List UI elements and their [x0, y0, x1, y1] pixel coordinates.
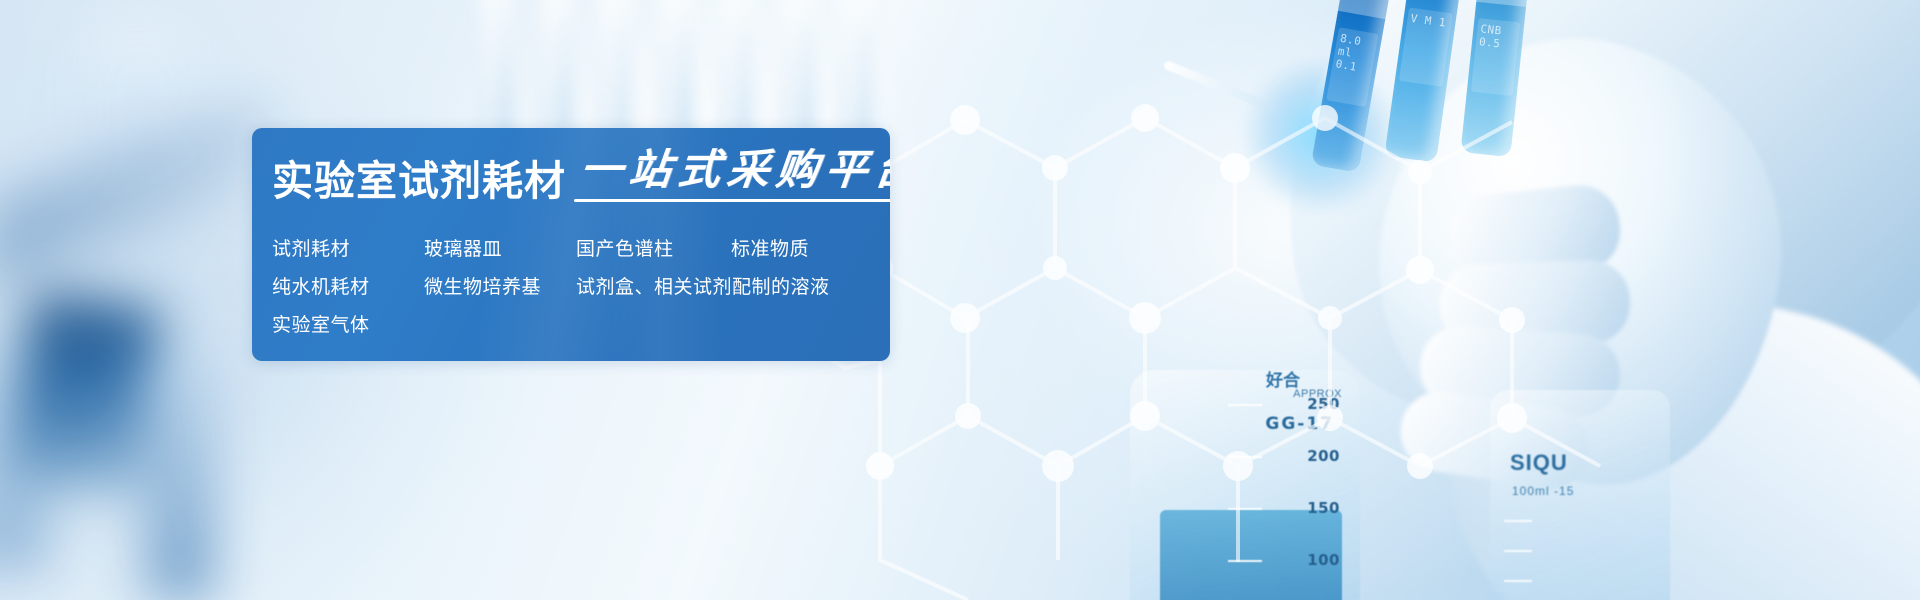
graduation-value: 150	[1307, 499, 1340, 517]
vial-cap	[1338, 0, 1391, 19]
category-item-laboratory-gas[interactable]: 实验室气体	[272, 310, 424, 337]
banner-title: 实验室试剂耗材 一站式采购平台	[272, 150, 890, 202]
flask-graduation-scale: 250 200 150 100 50	[1228, 400, 1346, 600]
title-underline	[574, 199, 890, 202]
category-item-reagent-consumables[interactable]: 试剂耗材	[272, 234, 424, 261]
graduation-value: 250	[1307, 395, 1340, 413]
category-item-reference-material[interactable]: 标准物质	[731, 234, 871, 261]
category-item-water-purifier-consumables[interactable]: 纯水机耗材	[272, 272, 424, 299]
graduated-flask: 好合 APPROX GG-17 250 200 150 100 50	[1130, 370, 1360, 600]
blur-shape-dark-bottle	[7, 292, 162, 498]
title-script-wrap: 一站式采购平台	[580, 150, 890, 202]
category-item-reagent-kits-solutions[interactable]: 试剂盒、相关试剂配制的溶液	[576, 272, 830, 299]
vial-label: 8.0 ml 0.1	[1326, 27, 1378, 107]
measuring-cylinder: SIQU 100ml -15	[1490, 390, 1670, 600]
graduation-value: 200	[1307, 447, 1340, 465]
category-item-glassware[interactable]: 玻璃器皿	[424, 234, 576, 261]
graduation-value: 100	[1307, 551, 1340, 569]
category-item-microbial-culture-medium[interactable]: 微生物培养基	[424, 272, 576, 299]
vial-cap	[1476, 0, 1529, 7]
cylinder-volume-text: 100ml -15	[1512, 484, 1574, 498]
cylinder-brand-text: SIQU	[1510, 450, 1568, 476]
photo-gloved-hand-region: 8.0 ml 0.1 V M 1 CNB 0.5 好合 APPROX GG-17…	[1100, 0, 1920, 600]
laboratory-banner: 8.0 ml 0.1 V M 1 CNB 0.5 好合 APPROX GG-17…	[0, 0, 1920, 600]
category-list: 试剂耗材 玻璃器皿 国产色谱柱 标准物质 纯水机耗材 微生物培养基 试剂盒、相关…	[272, 228, 872, 342]
vial-label: CNB 0.5	[1471, 18, 1521, 96]
title-main-text: 实验室试剂耗材	[272, 161, 566, 202]
title-script-text: 一站式采购平台	[578, 150, 890, 192]
vial-label: V M 1	[1399, 7, 1453, 86]
category-row: 纯水机耗材 微生物培养基 试剂盒、相关试剂配制的溶液	[272, 266, 872, 304]
category-item-domestic-chromatography-column[interactable]: 国产色谱柱	[576, 234, 731, 261]
category-row: 实验室气体	[272, 304, 872, 342]
category-row: 试剂耗材 玻璃器皿 国产色谱柱 标准物质	[272, 228, 872, 266]
content-panel: 实验室试剂耗材 一站式采购平台 试剂耗材 玻璃器皿 国产色谱柱 标准物质 纯水机…	[252, 128, 890, 361]
blur-shape-beaker-right	[145, 360, 215, 600]
